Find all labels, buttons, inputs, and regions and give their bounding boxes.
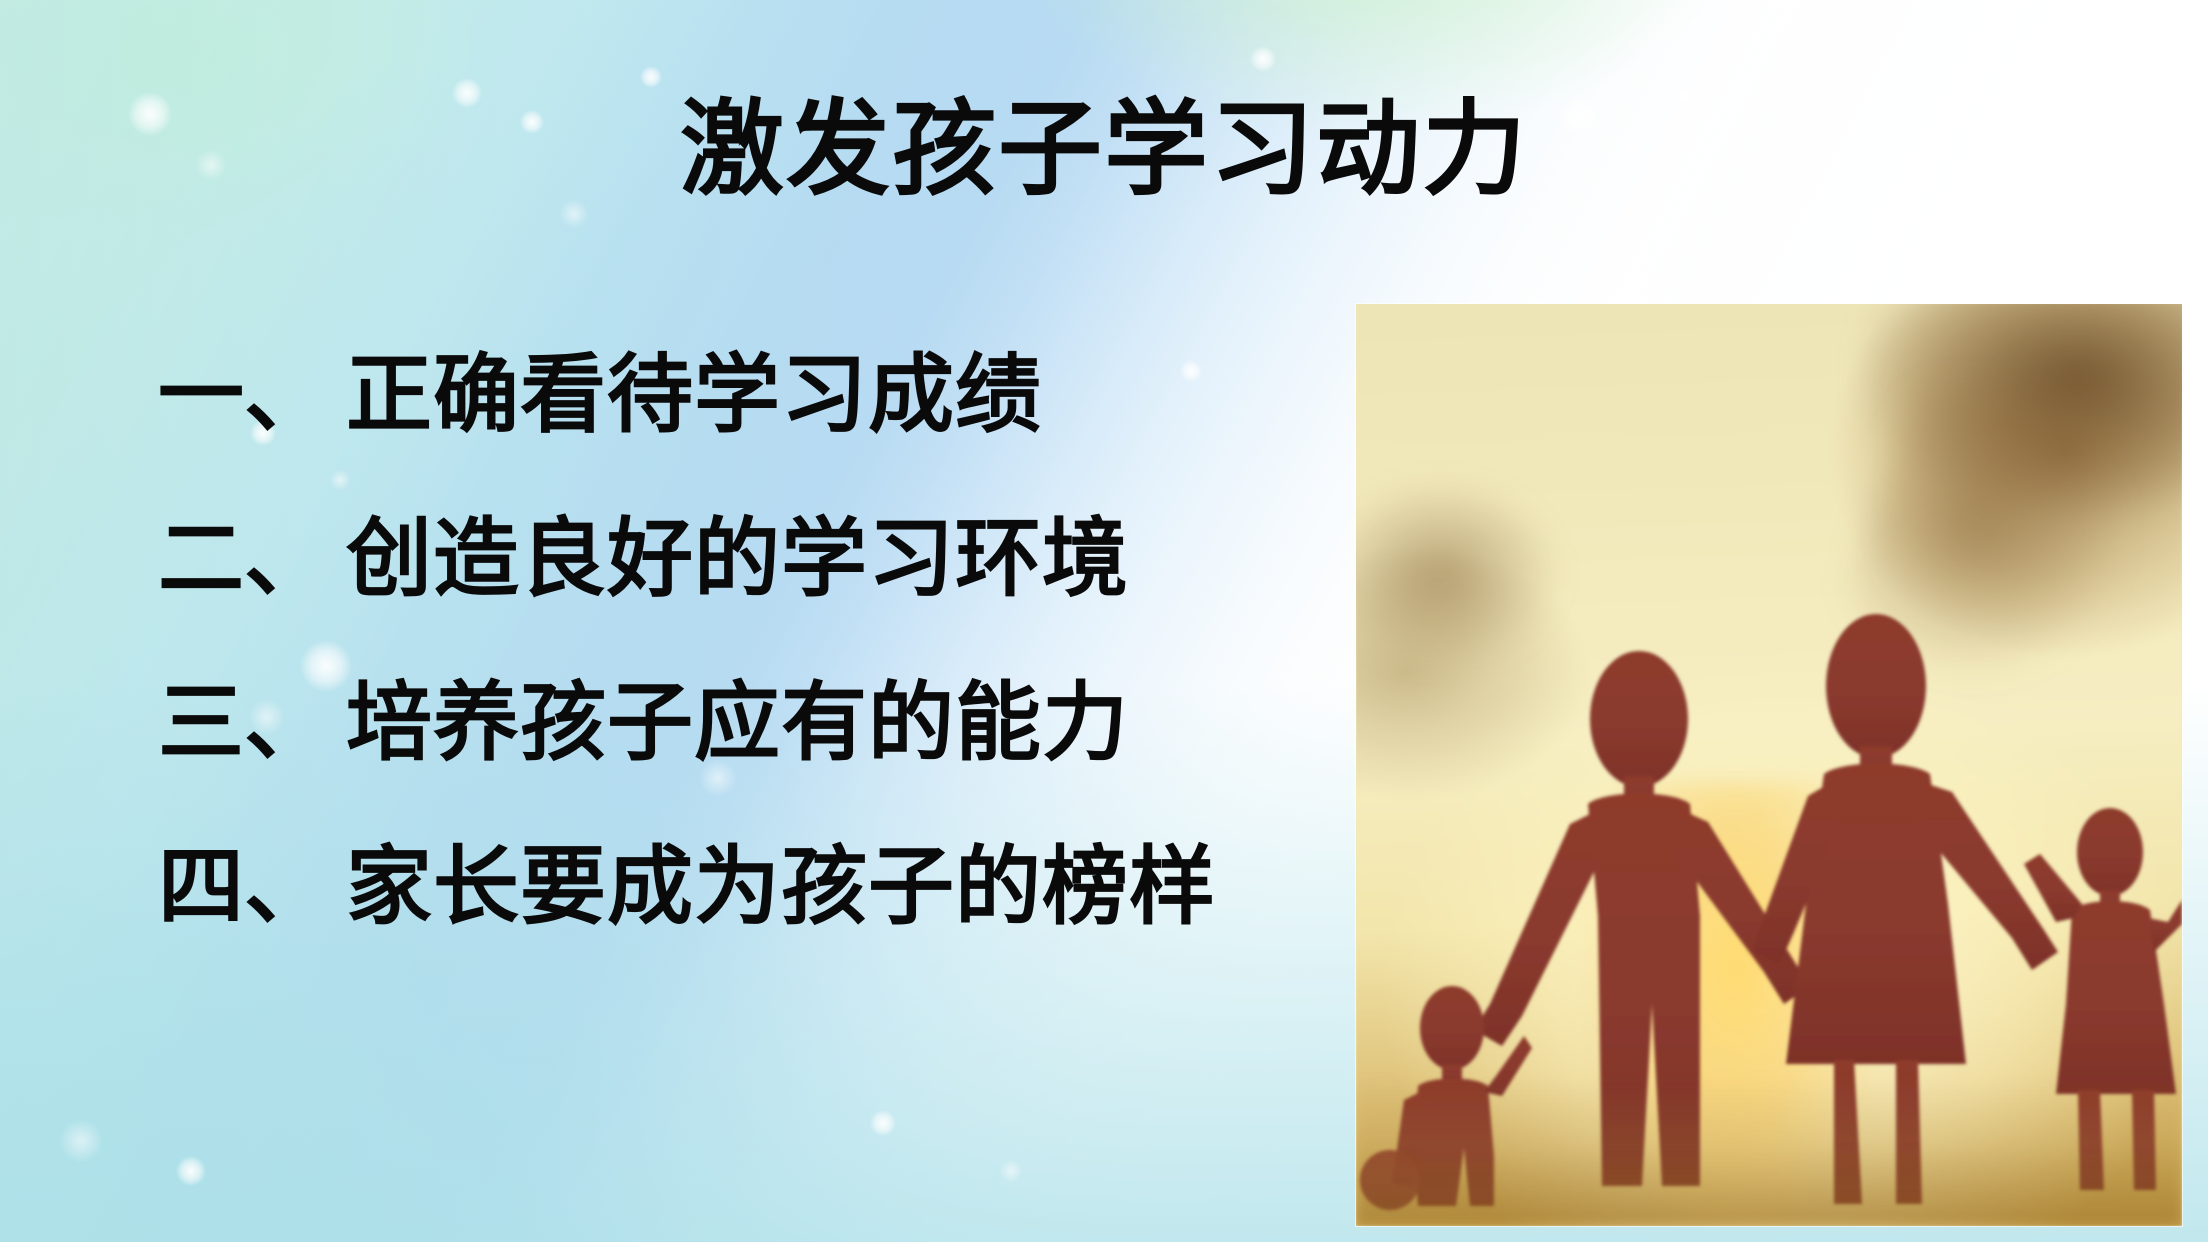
list-item-number: 一、 (158, 352, 330, 438)
family-photo (1356, 304, 2182, 1226)
list-item-number: 二、 (158, 516, 330, 602)
presentation-slide: 激发孩子学习动力 一、 正确看待学习成绩 二、 创造良好的学习环境 三、 培养孩… (0, 0, 2208, 1242)
list-item-label: 创造良好的学习环境 (346, 516, 1129, 602)
list-item-number: 四、 (158, 844, 330, 930)
bullet-list: 一、 正确看待学习成绩 二、 创造良好的学习环境 三、 培养孩子应有的能力 四、… (158, 352, 1338, 930)
list-item-number: 三、 (158, 680, 330, 766)
list-item: 一、 正确看待学习成绩 (158, 352, 1338, 438)
list-item-label: 正确看待学习成绩 (346, 352, 1042, 438)
list-item-label: 家长要成为孩子的榜样 (346, 844, 1216, 930)
list-item: 三、 培养孩子应有的能力 (158, 680, 1338, 766)
photo-ground-shadow (1356, 1076, 2182, 1226)
slide-title: 激发孩子学习动力 (0, 96, 2208, 205)
list-item: 二、 创造良好的学习环境 (158, 516, 1338, 602)
list-item: 四、 家长要成为孩子的榜样 (158, 844, 1338, 930)
list-item-label: 培养孩子应有的能力 (346, 680, 1129, 766)
